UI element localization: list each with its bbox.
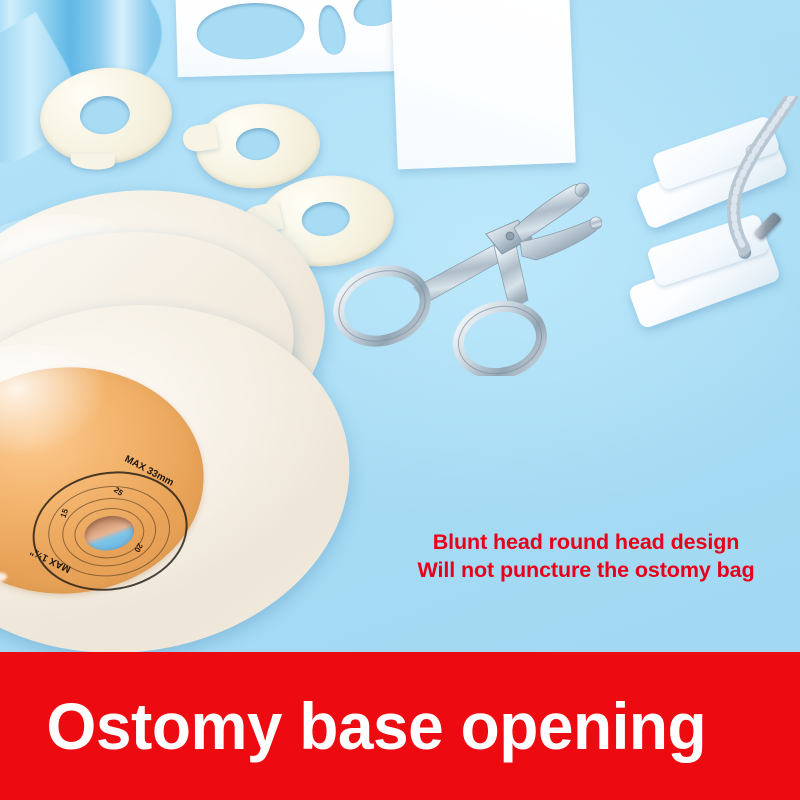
barrier-ring-tab	[181, 123, 219, 154]
scissors-blunt-tip-upper	[575, 183, 589, 197]
product-image: MAX MAX 33mm MAX 1¼" 25 20 15	[0, 0, 800, 800]
barrier-ring-hole	[78, 94, 132, 137]
paper-sheet	[390, 0, 575, 169]
scissors-ring-left	[330, 260, 435, 352]
caption-line-1: Blunt head round head design	[396, 528, 776, 556]
scissors-blunt-tip-lower	[590, 217, 602, 229]
bottom-banner: Ostomy base opening	[0, 652, 800, 800]
size-guide-group: MAX 33mm MAX 1¼" 25 20 15	[15, 451, 207, 609]
ostomy-scissors	[318, 176, 602, 376]
photo-area: MAX MAX 33mm MAX 1¼" 25 20 15	[0, 0, 800, 652]
scissors-ring-right	[451, 298, 548, 376]
template-cutout	[195, 0, 306, 63]
caption-line-2: Will not puncture the ostomy bag	[396, 556, 776, 584]
scissors-pivot-screw	[506, 232, 514, 240]
banner-title: Ostomy base opening	[0, 693, 706, 759]
clamp-cord	[688, 96, 800, 296]
barrier-ring-tab	[71, 154, 115, 170]
feature-caption: Blunt head round head design Will not pu…	[396, 528, 776, 585]
template-cutout	[315, 3, 349, 57]
measuring-template-sheet	[174, 0, 409, 77]
barrier-ring-hole	[235, 126, 282, 162]
